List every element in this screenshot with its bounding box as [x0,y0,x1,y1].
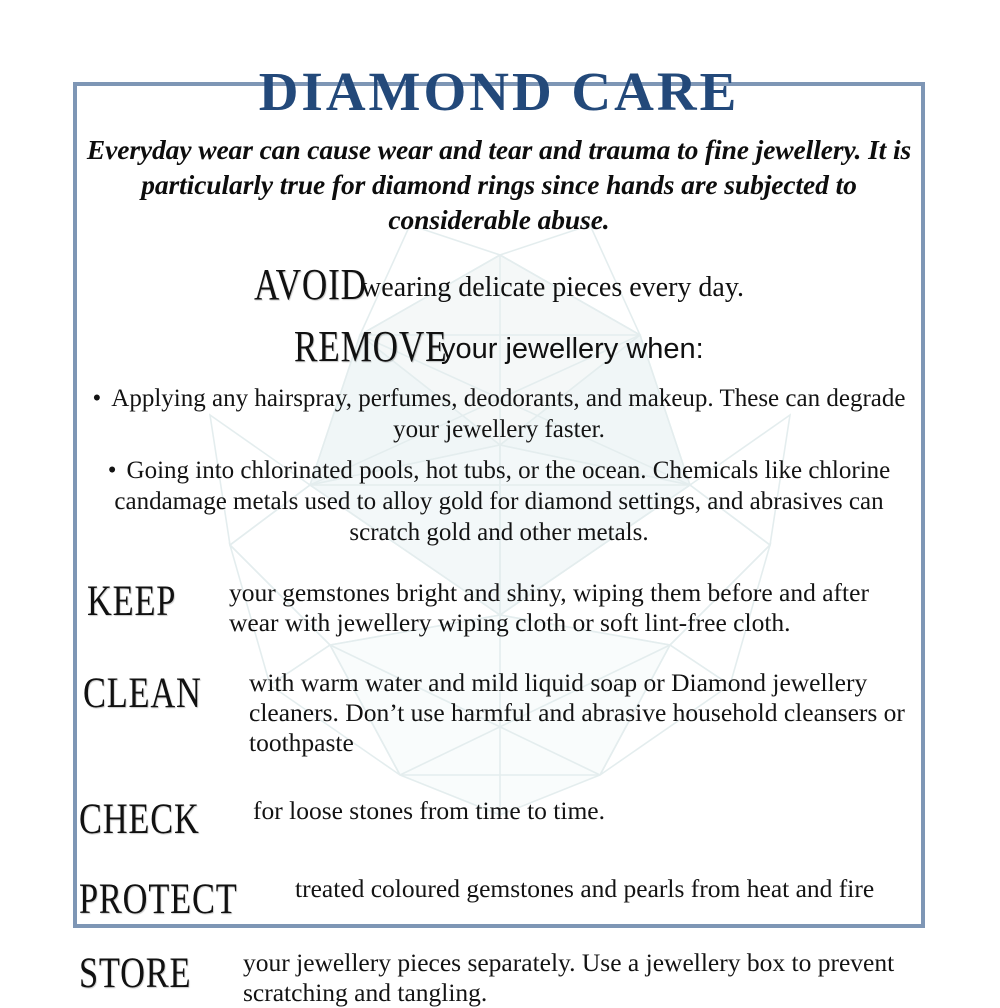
list-item-text: Applying any hairspray, perfumes, deodor… [111,385,905,443]
protect-keyword-cell: PROTECT [79,878,319,921]
remove-keyword: REMOVE [294,325,447,369]
store-keyword-cell: STORE [79,952,289,995]
remove-bullet-list: •Applying any hairspray, perfumes, deodo… [73,383,925,548]
avoid-keyword: AVOID [254,263,367,307]
list-item-text: Going into chlorinated pools, hot tubs, … [114,457,890,546]
intro-paragraph: Everyday wear can cause wear and tear an… [79,132,919,237]
check-keyword-cell: CHECK [79,798,289,841]
remove-row: REMOVEyour jewellery when: [73,325,925,369]
store-body: your jewellery pieces separately. Use a … [243,948,925,1008]
clean-keyword: CLEAN [83,672,202,715]
avoid-body: wearing delicate pieces every day. [361,272,744,303]
check-body: for loose stones from time to time. [253,796,925,826]
care-section-store: STORE your jewellery pieces separately. … [73,948,925,1008]
care-section-protect: PROTECT treated coloured gemstones and p… [73,874,925,904]
poster-content: DIAMOND CARE Everyday wear can cause wea… [73,60,925,940]
keep-keyword-cell: KEEP [87,580,297,623]
remove-body: your jewellery when: [441,333,704,365]
list-item: •Applying any hairspray, perfumes, deodo… [91,383,907,445]
avoid-row: AVOIDwearing delicate pieces every day. [73,263,925,307]
list-item: •Going into chlorinated pools, hot tubs,… [91,455,907,548]
care-section-keep: KEEP your gemstones bright and shiny, wi… [73,578,925,638]
check-keyword: CHECK [79,798,200,841]
protect-keyword: PROTECT [79,878,238,921]
store-keyword: STORE [79,952,191,995]
clean-body: with warm water and mild liquid soap or … [249,668,923,758]
care-section-check: CHECK for loose stones from time to time… [73,796,925,826]
page-title: DIAMOND CARE [73,60,925,120]
keep-body: your gemstones bright and shiny, wiping … [229,578,913,638]
bullet-icon: • [93,385,102,412]
bullet-icon: • [108,457,117,484]
care-section-clean: CLEAN with warm water and mild liquid so… [73,668,925,758]
protect-body: treated coloured gemstones and pearls fr… [295,874,925,904]
keep-keyword: KEEP [87,580,176,623]
clean-keyword-cell: CLEAN [83,672,293,715]
